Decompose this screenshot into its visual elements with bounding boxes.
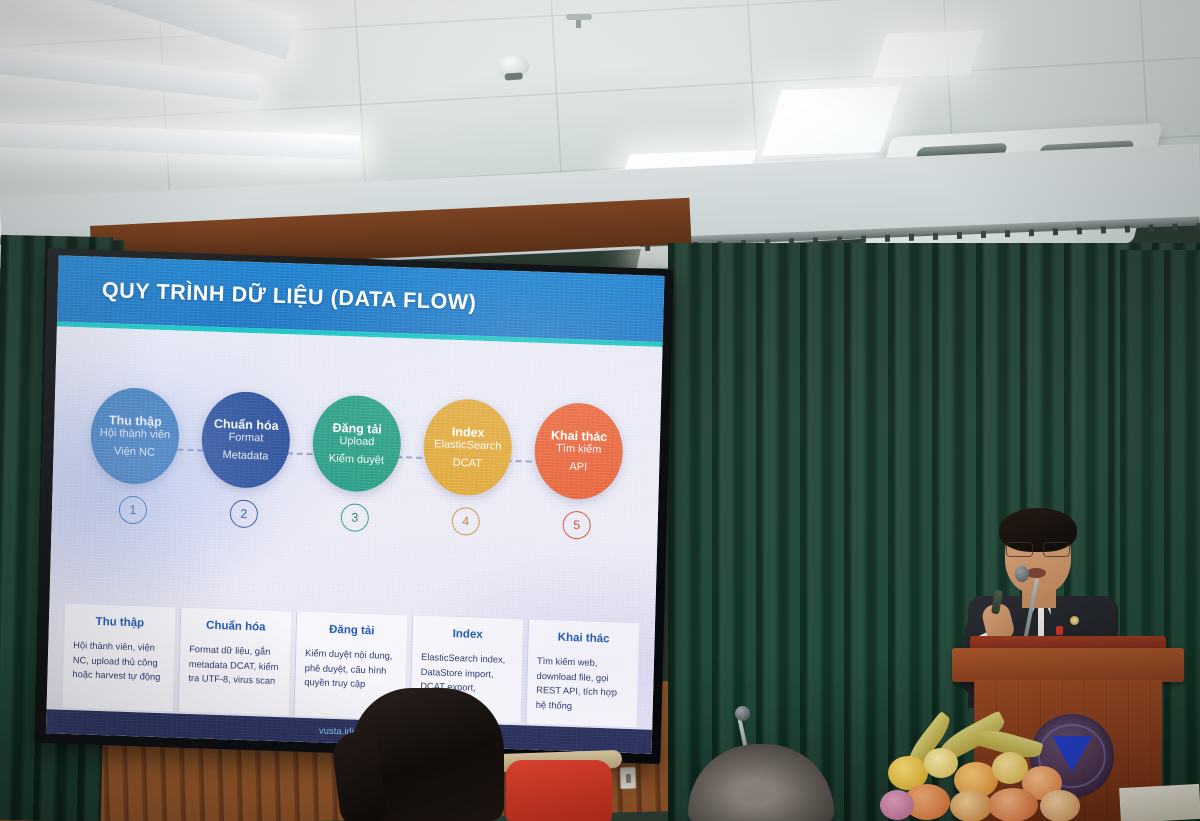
flow-step-subtitle: Tìm kiếm	[556, 442, 602, 456]
detail-card-heading: Khai thác	[537, 631, 629, 646]
lapel-badge-icon	[1070, 616, 1079, 625]
flow-step-number: 1	[119, 496, 148, 525]
detail-card-heading: Thu thập	[74, 615, 166, 630]
detail-card-body: Tìm kiếm web, download file, gọi REST AP…	[536, 654, 630, 715]
flow-step-detail: Viện NC	[114, 445, 155, 459]
sprinkler-head-icon	[566, 14, 592, 30]
audience-member	[352, 688, 504, 821]
flow-step-detail: DCAT	[453, 457, 482, 470]
flower	[1040, 790, 1080, 821]
mouth	[1026, 568, 1046, 578]
detail-card-heading: Index	[422, 627, 514, 642]
flower	[950, 790, 992, 821]
led-display-screen: QUY TRÌNH DỮ LIỆU (DATA FLOW) Thu thập H…	[35, 248, 674, 764]
flow-step-detail: API	[569, 461, 587, 474]
screen-bezel: QUY TRÌNH DỮ LIỆU (DATA FLOW) Thu thập H…	[35, 248, 674, 764]
flow-step-number: 3	[340, 503, 369, 532]
slide-title: QUY TRÌNH DỮ LIỆU (DATA FLOW)	[102, 277, 477, 315]
flow-step-number: 2	[230, 499, 259, 528]
eyeglasses-icon	[1005, 542, 1071, 555]
flow-step-subtitle: ElasticSearch	[434, 438, 502, 453]
flow-step: Chuẩn hóa Format Metadata 2	[196, 390, 296, 529]
microphone-icon	[735, 706, 750, 721]
detail-card-body: Format dữ liệu, gắn metadata DCAT, kiểm …	[188, 642, 281, 688]
microphone-icon	[1015, 566, 1029, 582]
flower-arrangement	[880, 726, 1130, 821]
flow-step-detail: Metadata	[222, 449, 268, 463]
table-surface	[1119, 784, 1200, 821]
led-panel-light	[873, 30, 984, 77]
flow-step-bubble: Chuẩn hóa Format Metadata	[201, 390, 292, 489]
detail-card: Thu thập Hội thành viên, viện NC, upload…	[63, 604, 176, 711]
flower	[924, 748, 958, 778]
detail-card: Chuẩn hóa Format dữ liệu, gắn metadata D…	[178, 608, 292, 715]
flower	[880, 790, 914, 820]
slide-body: Thu thập Hội thành viên Viện NC 1 Chuẩn …	[46, 326, 663, 753]
flow-step-subtitle: Hội thành viên	[100, 427, 171, 442]
flow-step: Index ElasticSearch DCAT 4	[417, 398, 517, 537]
detail-card-body: Kiểm duyệt nội dung, phê duyệt, cấu hình…	[304, 646, 397, 692]
flow-step: Đăng tải Upload Kiểm duyệt 3	[306, 394, 406, 533]
flow-step-bubble: Thu thập Hội thành viên Viện NC	[90, 387, 181, 486]
podium-ledge	[952, 648, 1184, 682]
flower	[988, 788, 1038, 821]
presentation-slide: QUY TRÌNH DỮ LIỆU (DATA FLOW) Thu thập H…	[46, 255, 665, 753]
flow-step-detail: Kiểm duyệt	[329, 453, 384, 467]
flow-step-subtitle: Upload	[339, 435, 374, 448]
flow-step-bubble: Đăng tải Upload Kiểm duyệt	[312, 394, 403, 493]
flow-step-title: Index	[452, 425, 485, 440]
led-panel-light	[761, 86, 901, 156]
flow-step-title: Chuẩn hóa	[214, 416, 279, 432]
flow-step-bubble: Index ElasticSearch DCAT	[422, 398, 513, 497]
wall-socket-icon	[620, 767, 637, 790]
detail-card-body: Hội thành viên, viện NC, upload thủ công…	[72, 638, 165, 684]
flow-step: Thu thập Hội thành viên Viện NC 1	[85, 386, 185, 525]
conference-hall-photo: QUY TRÌNH DỮ LIỆU (DATA FLOW) Thu thập H…	[0, 0, 1200, 821]
flow-step-number: 5	[562, 511, 591, 540]
flow-step-subtitle: Format	[228, 431, 263, 444]
lapel-pin-icon	[1056, 626, 1063, 635]
detail-card: Khai thác Tìm kiếm web, download file, g…	[525, 620, 639, 727]
detail-card-row: Thu thập Hội thành viên, viện NC, upload…	[57, 604, 645, 728]
detail-card-heading: Chuẩn hóa	[190, 619, 282, 634]
flow-step-bubble: Khai thác Tìm kiếm API	[533, 402, 624, 501]
flow-diagram: Thu thập Hội thành viên Viện NC 1 Chuẩn …	[51, 378, 661, 549]
flow-step-number: 4	[451, 507, 480, 536]
red-chair	[506, 760, 612, 821]
detail-card-heading: Đăng tải	[306, 623, 398, 638]
flow-step: Khai thác Tìm kiếm API 5	[528, 402, 628, 541]
